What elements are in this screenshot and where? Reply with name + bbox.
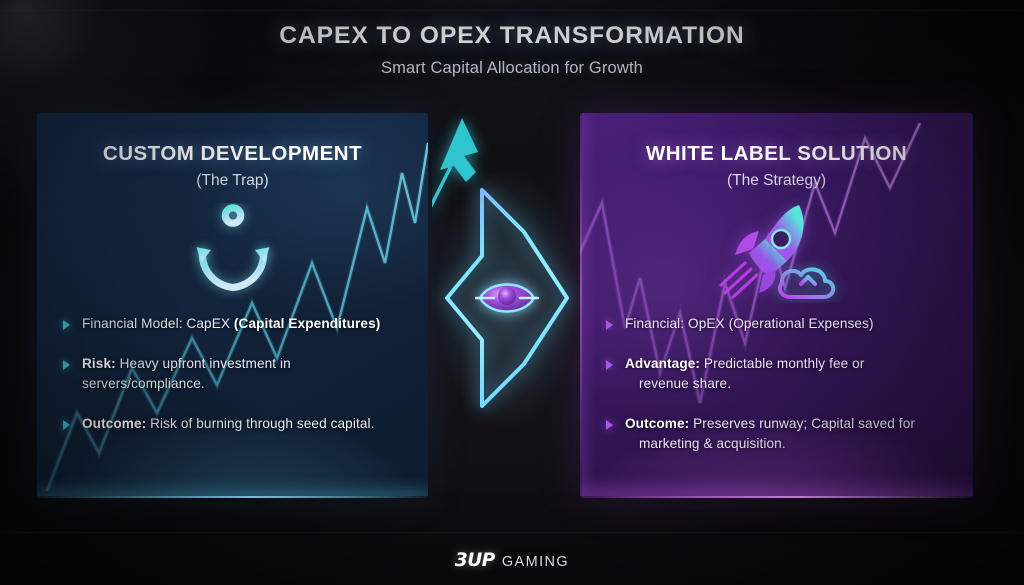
list-item[interactable]: Financial Model: CapEX (Capital Expendit… <box>63 314 402 334</box>
center-emblem-group <box>432 108 582 458</box>
logo-mark: 3UP <box>455 550 495 571</box>
bullet-text: Financial: OpEX (Operational Expenses) <box>625 314 874 334</box>
bullet-triangle-icon <box>606 420 613 430</box>
bullet-text: Risk: Heavy upfront investment inservers… <box>82 354 291 394</box>
bullet-text: Advantage: Predictable monthly fee orrev… <box>625 354 864 394</box>
slide-header: CAPEX TO OPEX TRANSFORMATION Smart Capit… <box>0 22 1024 78</box>
logo-word: GAMING <box>502 554 569 570</box>
bullet-triangle-icon <box>63 320 70 330</box>
rocket-cloud-icon-wrap <box>606 196 947 306</box>
footer-logo[interactable]: 3UP GAMING <box>0 550 1024 571</box>
panel-custom-development[interactable]: CUSTOM DEVELOPMENT (The Trap) <box>37 113 428 498</box>
bullet-triangle-icon <box>606 320 613 330</box>
list-item[interactable]: Financial: OpEX (Operational Expenses) <box>606 314 947 334</box>
rocket-cloud-icon <box>707 199 847 303</box>
top-divider <box>0 10 1024 11</box>
panel-left-bullets: Financial Model: CapEX (Capital Expendit… <box>63 314 402 434</box>
bullet-triangle-icon <box>63 360 70 370</box>
bottom-divider <box>0 532 1024 533</box>
anchor-icon <box>185 203 281 299</box>
page-subtitle: Smart Capital Allocation for Growth <box>0 59 1024 78</box>
panel-right-subtitle: (The Strategy) <box>606 172 947 190</box>
bullet-triangle-icon <box>606 360 613 370</box>
list-item[interactable]: Risk: Heavy upfront investment inservers… <box>63 354 402 394</box>
panel-white-label-solution[interactable]: WHITE LABEL SOLUTION (The Strategy) <box>580 113 973 498</box>
bullet-text: Outcome: Preserves runway; Capital saved… <box>625 414 915 454</box>
bullet-triangle-icon <box>63 420 70 430</box>
list-item[interactable]: Outcome: Risk of burning through seed ca… <box>63 414 402 434</box>
panel-left-title: CUSTOM DEVELOPMENT <box>63 142 402 166</box>
list-item[interactable]: Advantage: Predictable monthly fee orrev… <box>606 354 947 394</box>
panel-right-content: WHITE LABEL SOLUTION (The Strategy) <box>580 113 973 498</box>
panel-right-edge-glow <box>580 496 973 498</box>
panel-left-subtitle: (The Trap) <box>63 172 402 190</box>
panel-right-bullets: Financial: OpEX (Operational Expenses) A… <box>606 314 947 454</box>
bullet-text: Outcome: Risk of burning through seed ca… <box>82 414 374 434</box>
panel-right-title: WHITE LABEL SOLUTION <box>606 142 947 166</box>
panel-left-edge-glow <box>37 496 428 498</box>
panel-left-content: CUSTOM DEVELOPMENT (The Trap) <box>37 113 428 498</box>
list-item[interactable]: Outcome: Preserves runway; Capital saved… <box>606 414 947 454</box>
diamond-eye-emblem <box>432 108 582 458</box>
bullet-text: Financial Model: CapEX (Capital Expendit… <box>82 314 380 334</box>
slide-canvas: CAPEX TO OPEX TRANSFORMATION Smart Capit… <box>0 0 1024 585</box>
page-title: CAPEX TO OPEX TRANSFORMATION <box>0 22 1024 50</box>
anchor-icon-wrap <box>63 196 402 306</box>
